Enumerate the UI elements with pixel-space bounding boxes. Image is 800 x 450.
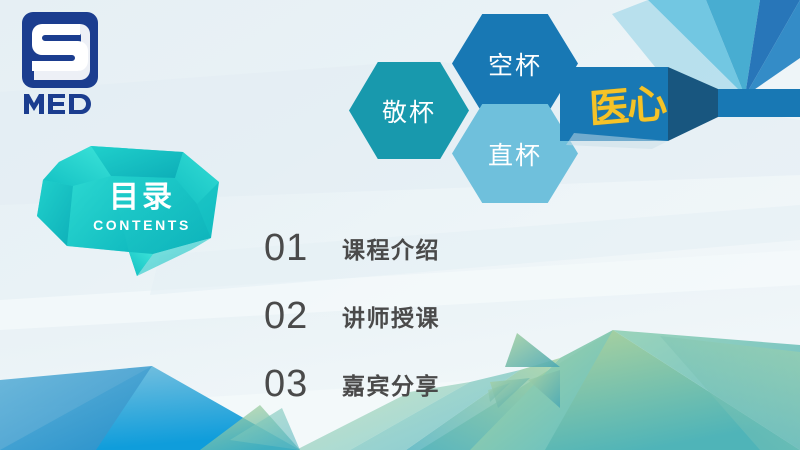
hex-zhibei-label: 直杯 — [488, 136, 542, 172]
logo-wordmark — [24, 94, 91, 114]
hex-jingbei-label: 敬杯 — [382, 93, 436, 129]
list-item-label: 讲师授课 — [342, 299, 440, 333]
list-item-label: 课程介绍 — [342, 231, 440, 265]
list-item-number: 03 — [264, 363, 342, 406]
smed-logo — [18, 10, 114, 114]
hex-kongbei-label: 空杯 — [488, 46, 542, 82]
list-item-number: 01 — [264, 227, 342, 270]
list-item-number: 02 — [264, 295, 342, 338]
list-item[interactable]: 03 嘉宾分享 — [264, 350, 594, 418]
contents-list: 01 课程介绍 02 讲师授课 03 嘉宾分享 — [264, 214, 594, 418]
slide-canvas: 敬杯 空杯 直杯 医心 — [0, 0, 800, 450]
list-item[interactable]: 01 课程介绍 — [264, 214, 594, 282]
list-item[interactable]: 02 讲师授课 — [264, 282, 594, 350]
yixin-ribbon-label: 医心 — [582, 58, 672, 147]
contents-badge — [33, 142, 221, 277]
list-item-label: 嘉宾分享 — [342, 367, 440, 401]
